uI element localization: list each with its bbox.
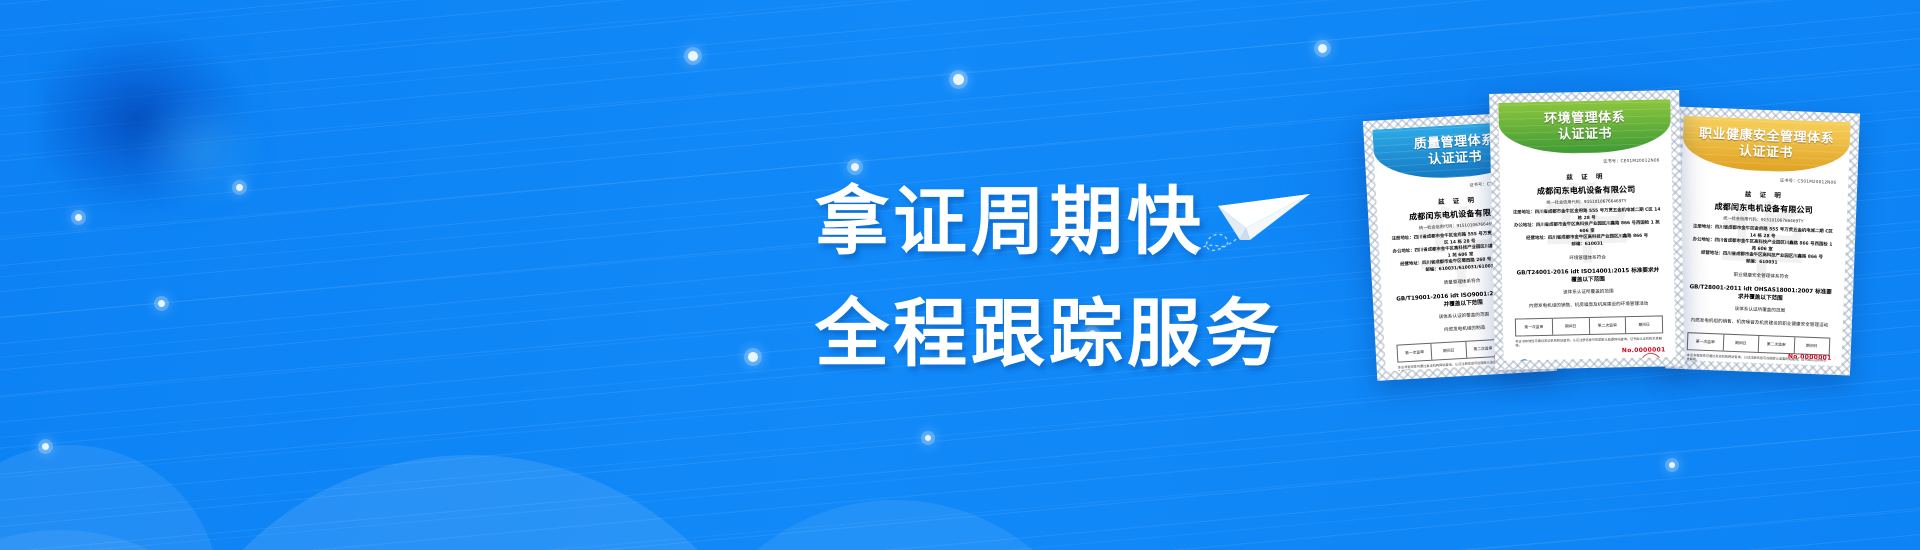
certificate-title-secondary: 认证证书: [1428, 150, 1483, 169]
certificate-audit-cell: 第二次监审: [1589, 317, 1626, 334]
certificate-title-secondary: 认证证书: [1739, 144, 1794, 162]
certificate-address-block: 注册地址：四川省成都市金牛区金府路 555 号万贯五金机电城二期 C区 14 栋…: [1513, 207, 1662, 249]
headline-line-2: 全程跟踪服务: [815, 278, 1283, 390]
certificate-scope: 内燃发电机组的销售、机房噪音及机房建设的职业健康安全管理活动: [1688, 317, 1831, 329]
certificate-number: 证书号：CS01M20012N06: [1693, 174, 1836, 185]
certificate-card[interactable]: 职业健康安全管理体系认证证书华证书号：CS01M20012N06兹 证 明成都闰…: [1665, 107, 1860, 376]
certificate-audit-cell: 期间日: [1626, 316, 1662, 333]
certificate-page: 环境管理体系认证证书华证书号：CE01M20012N06兹 证 明成都闰东电机设…: [1498, 99, 1675, 361]
decorative-dot: [1669, 462, 1675, 468]
certificate-credit-code: 统一社会信用代码：91510106766469TY: [1692, 214, 1835, 225]
certificate-page: 职业健康安全管理体系认证证书华证书号：CS01M20012N06兹 证 明成都闰…: [1674, 116, 1850, 366]
decorative-dot: [75, 214, 82, 221]
certificate-standard: GB/T24001-2016 idt ISO14001:2015 标准要求并覆盖…: [1514, 265, 1662, 284]
certificate-title-banner: 职业健康安全管理体系认证证书: [1682, 116, 1851, 174]
certificate-title-banner: 环境管理体系认证证书: [1498, 99, 1671, 155]
cnas-logo-icon: CNAS: [1569, 359, 1597, 361]
decorative-dot: [1318, 44, 1327, 53]
certificate-audit-table: 第一次监审期间日第二次监审期间日: [1515, 315, 1663, 336]
decorative-dot: [236, 184, 243, 191]
certificate-card[interactable]: 环境管理体系认证证书华证书号：CE01M20012N06兹 证 明成都闰东电机设…: [1489, 90, 1685, 370]
certificate-audit-cell: 第一次监审: [1688, 333, 1724, 350]
certificate-audit-cell: 第一次监审: [1516, 319, 1553, 336]
certificate-audit-cell: 第二次监审: [1759, 336, 1795, 353]
decorative-dot: [748, 352, 758, 362]
cnca-seal-icon: 国: [1516, 359, 1533, 360]
certificate-body: 华证书号：CE01M20012N06兹 证 明成都闰东电机设备有限公司统一社会信…: [1499, 151, 1675, 361]
certificate-certify-label: 兹 证 明: [1693, 186, 1836, 201]
certificate-audit-table: 第一次监审期间日第二次监审期间日: [1687, 332, 1831, 355]
certificate-number: 证书号：CE01M20012N06: [1512, 157, 1660, 166]
certificate-credit-code: 统一社会信用代码：91510106766469TY: [1512, 197, 1660, 206]
paper-plane-icon: [1192, 178, 1322, 258]
certificate-scope: 内燃发电机组的销售、机房噪音及机房建设的环境管理活动: [1515, 300, 1663, 310]
certificate-title-secondary: 认证证书: [1558, 126, 1612, 143]
certificate-scope-label: 该体系认证所覆盖的范围: [1514, 287, 1662, 297]
certificate-conformance-text: 职业健康安全管理体系符合: [1690, 270, 1833, 282]
certificate-standard: GB/T28001-2011 idt OHSAS18001:2007 标准要求并…: [1689, 282, 1833, 303]
certificate-serial-number: No.0000001: [1622, 346, 1666, 354]
decorative-dot: [42, 443, 49, 450]
decorative-dot: [158, 300, 165, 307]
decorative-dot: [688, 51, 698, 61]
certificate-body: 华证书号：CS01M20012N06兹 证 明成都闰东电机设备有限公司统一社会信…: [1674, 168, 1848, 366]
certificate-conformance-text: 环境管理体系符合: [1514, 253, 1662, 263]
certificate-audit-cell: 期间日: [1432, 342, 1467, 360]
decorative-dot: [953, 74, 964, 85]
decorative-dot: [925, 435, 931, 441]
certificate-audit-cell: 期间日: [1553, 318, 1590, 335]
certificate-scope-label: 该体系认证所覆盖的范围: [1688, 304, 1831, 316]
certificate-audit-cell: 期间日: [1723, 335, 1759, 352]
certificate-audit-cell: 期间日: [1794, 337, 1829, 354]
certificate-title-primary: 环境管理体系: [1544, 110, 1625, 128]
certificate-company-name: 成都闰东电机设备有限公司: [1512, 183, 1660, 197]
certificate-certify-label: 兹 证 明: [1512, 169, 1660, 182]
background-cyan-glow: [135, 95, 265, 205]
certificate-audit-cell: 第一次监审: [1397, 344, 1432, 362]
certificate-address-block: 注册地址：四川省成都市金牛区金府路 555 号万贯五金机电城二期 C区 14 栋…: [1690, 224, 1834, 268]
certificates-group: 质量管理体系认证证书华证书号：CT01M20012N06兹 证 明成都闰东电机设…: [1370, 70, 1920, 410]
promo-banner: 拿证周期快 全程跟踪服务 质量管理体系认证证书华证书号：CT01M20012N0…: [0, 0, 1920, 550]
